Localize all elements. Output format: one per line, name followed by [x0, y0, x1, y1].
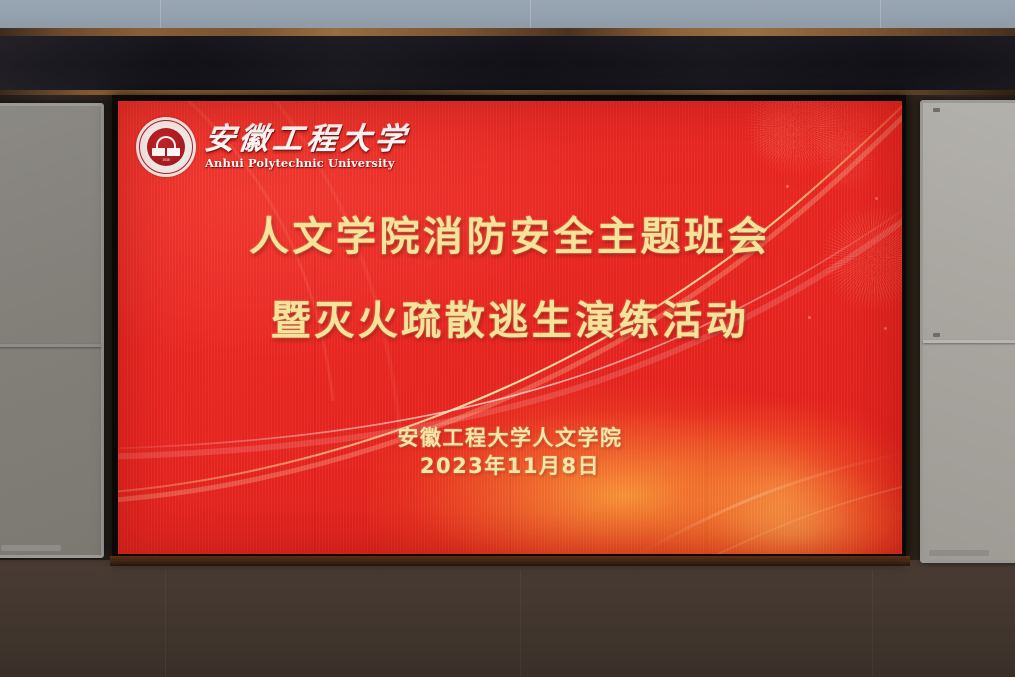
- ceiling-seam: [880, 0, 881, 30]
- ceiling-seam: [530, 0, 531, 30]
- left-whiteboard: [0, 103, 104, 558]
- dark-wall-band-sheen: [0, 36, 1015, 92]
- wall-panel-seam: [520, 570, 521, 677]
- corner-fold: [718, 487, 902, 554]
- university-logo: 1935 安徽工程大学 Anhui Polytechnic University: [136, 117, 409, 177]
- university-name-block: 安徽工程大学 Anhui Polytechnic University: [205, 124, 409, 171]
- screen-bottom-shadow: [110, 556, 910, 566]
- slide-subtitle: 安徽工程大学人文学院 2023年11月8日: [118, 424, 902, 481]
- whiteboard-divider: [923, 340, 1015, 343]
- wall-lower-panelling: [0, 560, 1015, 677]
- led-screen: 1935 安徽工程大学 Anhui Polytechnic University…: [118, 101, 902, 554]
- university-emblem-icon: 1935: [136, 117, 196, 177]
- emblem-core: 1935: [147, 128, 185, 166]
- ceiling-panels: [0, 0, 1015, 30]
- emblem-book-shape: [152, 148, 180, 156]
- right-whiteboard: [920, 100, 1015, 563]
- wall-panel-seam: [165, 570, 166, 677]
- title-line-1: 人文学院消防安全主题班会: [118, 217, 902, 257]
- emblem-year: 1935: [162, 158, 170, 162]
- ceiling-seam: [160, 0, 161, 30]
- subtitle-date: 2023年11月8日: [118, 452, 902, 480]
- whiteboard-clip: [933, 108, 940, 112]
- title-line-2: 暨灭火疏散逃生演练活动: [118, 301, 902, 341]
- university-name-en: Anhui Polytechnic University: [205, 156, 409, 170]
- whiteboard-tray: [929, 550, 989, 556]
- slide-title: 人文学院消防安全主题班会 暨灭火疏散逃生演练活动: [118, 217, 902, 341]
- university-name-cn: 安徽工程大学: [203, 124, 411, 156]
- wall-panel-seam: [872, 570, 873, 677]
- whiteboard-clip: [933, 333, 940, 337]
- classroom-scene: 1935 安徽工程大学 Anhui Polytechnic University…: [0, 0, 1015, 677]
- subtitle-organization: 安徽工程大学人文学院: [118, 424, 902, 452]
- whiteboard-divider: [0, 344, 101, 347]
- whiteboard-tray: [1, 545, 61, 551]
